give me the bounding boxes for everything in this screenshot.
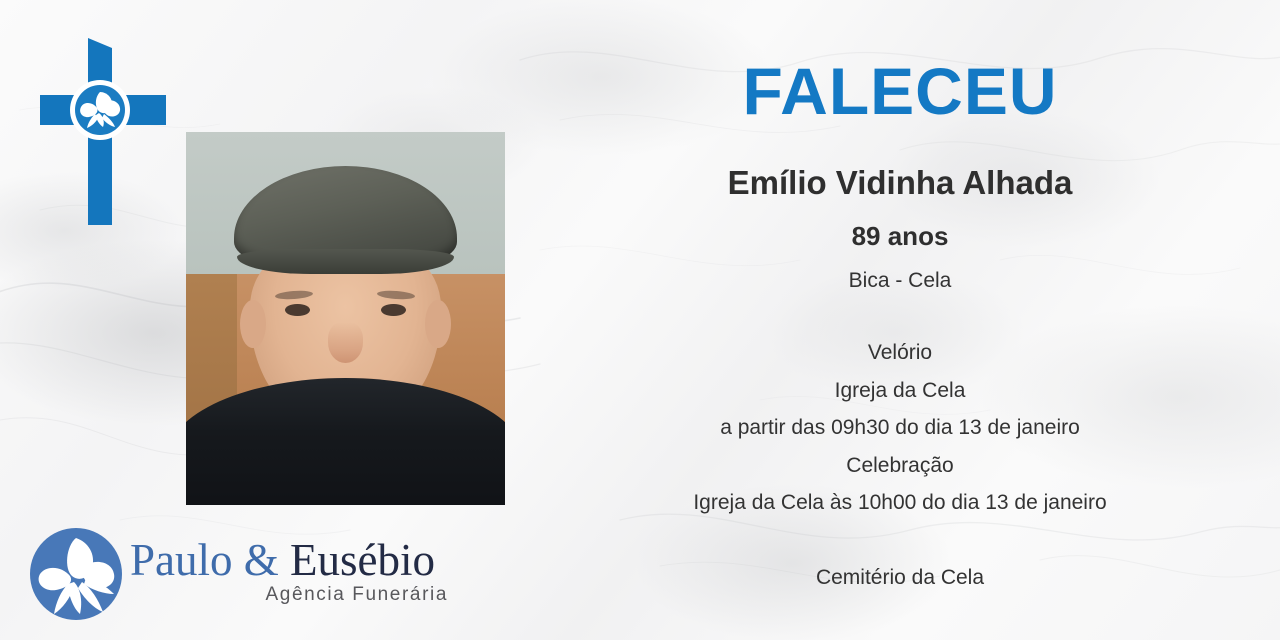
logo-butterfly-icon xyxy=(28,526,124,622)
photo-nose xyxy=(328,322,363,363)
logo-tagline: Agência Funerária xyxy=(130,584,448,606)
service-line: a partir das 09h30 do dia 13 de janeiro xyxy=(520,409,1280,447)
service-line: Igreja da Cela xyxy=(520,372,1280,410)
photo-cap-brim xyxy=(237,249,454,273)
paulo-e-eusebio-logo: Paulo & Eusébio Agência Funerária xyxy=(28,520,448,628)
service-details: Velório Igreja da Cela a partir das 09h3… xyxy=(520,334,1280,597)
cross-icon xyxy=(33,30,178,225)
deceased-locality: Bica - Cela xyxy=(520,268,1280,293)
logo-wordmark: Paulo & Eusébio Agência Funerária xyxy=(130,534,448,606)
logo-name-first: Paulo & xyxy=(130,535,279,585)
service-line: Velório xyxy=(520,334,1280,372)
obituary-card: FALECEU Emílio Vidinha Alhada 89 anos Bi… xyxy=(0,0,1280,640)
logo-name-second: Eusébio xyxy=(279,535,435,585)
service-line: Celebração xyxy=(520,447,1280,485)
photo-ear-right xyxy=(425,300,451,348)
deceased-portrait xyxy=(186,132,505,505)
photo-ear-left xyxy=(240,300,266,348)
announcement-text: FALECEU Emílio Vidinha Alhada 89 anos Bi… xyxy=(520,0,1280,640)
service-line-spacer xyxy=(520,522,1280,560)
deceased-age: 89 anos xyxy=(520,221,1280,252)
announcement-title: FALECEU xyxy=(520,58,1280,124)
photo-sweater xyxy=(186,378,505,505)
logo-name: Paulo & Eusébio xyxy=(130,534,448,586)
cemetery-line: Cemitério da Cela xyxy=(520,559,1280,597)
deceased-name: Emílio Vidinha Alhada xyxy=(520,163,1280,203)
service-line: Igreja da Cela às 10h00 do dia 13 de jan… xyxy=(520,484,1280,522)
